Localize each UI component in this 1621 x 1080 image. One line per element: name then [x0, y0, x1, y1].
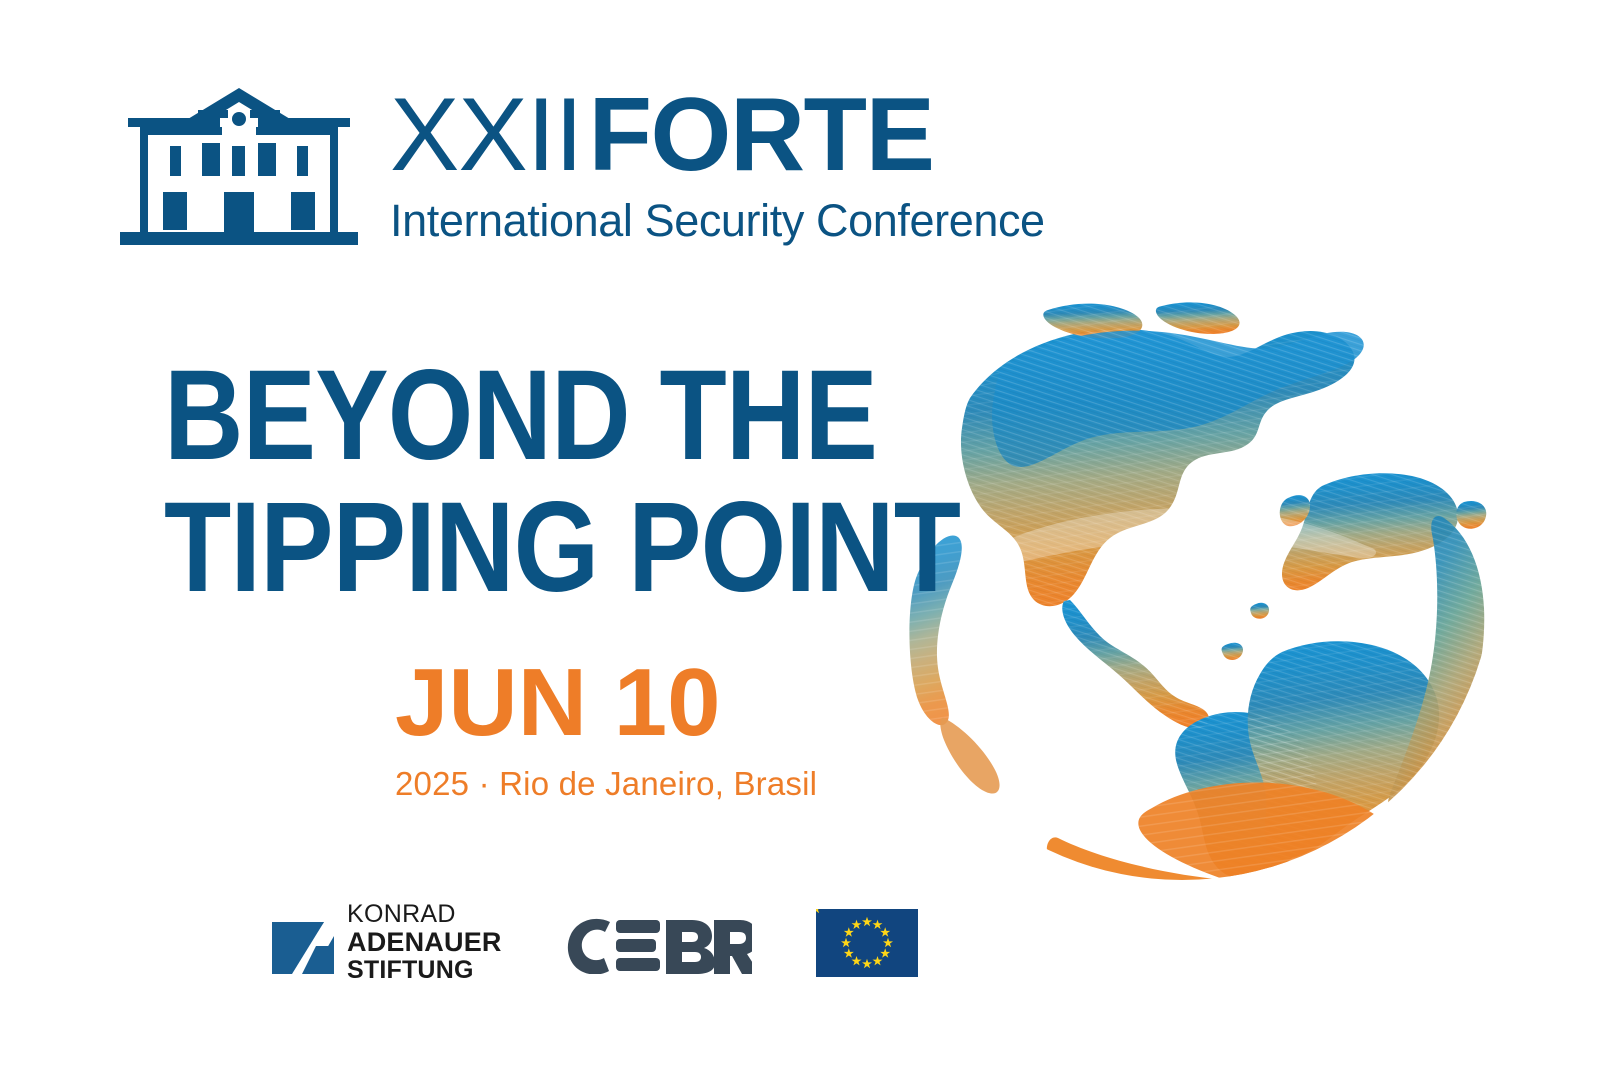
- forte-building-icon: [120, 80, 358, 252]
- edition-numeral: XXII: [390, 86, 583, 185]
- kas-chevron-mark-icon: [272, 912, 334, 974]
- forte-wordmark-block: XXII FORTE International Security Confer…: [390, 86, 1045, 247]
- kas-line-2: ADENAUER: [347, 929, 502, 956]
- sponsor-logo-row: KONRAD ADENAUER STIFTUNG: [272, 902, 918, 983]
- brand-name: FORTE: [589, 86, 934, 185]
- forte-wordmark: XXII FORTE: [390, 86, 1045, 185]
- conference-poster: XXII FORTE International Security Confer…: [0, 0, 1621, 1080]
- headline-line-2: TIPPING POINT: [164, 484, 960, 612]
- headline-line-1: BEYOND THE: [164, 352, 960, 480]
- sponsor-konrad-adenauer-stiftung: KONRAD ADENAUER STIFTUNG: [272, 902, 502, 983]
- cebri-wordmark-icon: [566, 912, 752, 974]
- conference-subtitle: International Security Conference: [390, 195, 1045, 247]
- sponsor-european-union-flag: [816, 909, 918, 977]
- kas-line-1: KONRAD: [347, 902, 502, 927]
- event-date: JUN 10: [395, 655, 817, 751]
- event-date-block: JUN 10 2025 · Rio de Janeiro, Brasil: [395, 655, 817, 803]
- event-location: 2025 · Rio de Janeiro, Brasil: [395, 765, 817, 803]
- page-title: BEYOND THE TIPPING POINT: [164, 352, 1090, 612]
- kas-line-3: STIFTUNG: [347, 958, 502, 983]
- kas-wordmark: KONRAD ADENAUER STIFTUNG: [347, 902, 502, 983]
- event-logo-lockup: XXII FORTE International Security Confer…: [120, 78, 1045, 252]
- sponsor-cebri: [566, 912, 752, 974]
